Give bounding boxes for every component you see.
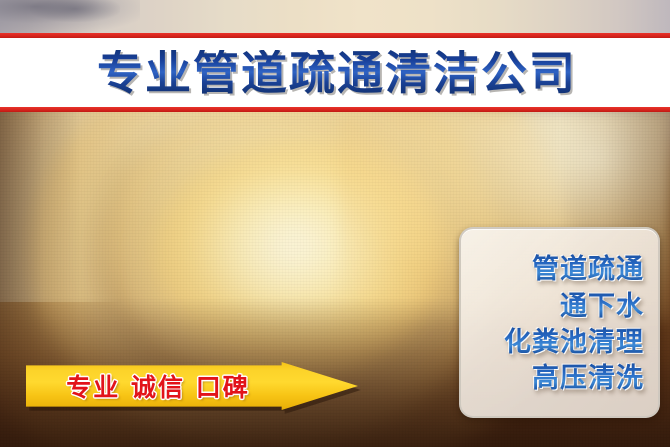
service-item-4: 高压清洗	[532, 362, 644, 395]
top-strip-smudge-secondary	[30, 0, 120, 22]
slogan-text: 专业 诚信 口碑	[34, 362, 282, 410]
headline-band: 专业管道疏通清洁公司	[0, 38, 670, 107]
service-item-2: 通下水	[560, 290, 644, 323]
service-item-1: 管道疏通	[532, 253, 644, 286]
service-item-3: 化粪池清理	[504, 326, 644, 359]
slogan-arrow-badge: 专业 诚信 口碑	[26, 362, 358, 412]
services-panel: 管道疏通 通下水 化粪池清理 高压清洗	[459, 227, 660, 418]
advertisement-banner: 专业管道疏通清洁公司 管道疏通 通下水 化粪池清理 高压清洗 专业 诚信 口碑	[0, 0, 670, 447]
top-texture-strip	[0, 0, 670, 33]
page-title: 专业管道疏通清洁公司	[93, 50, 577, 96]
